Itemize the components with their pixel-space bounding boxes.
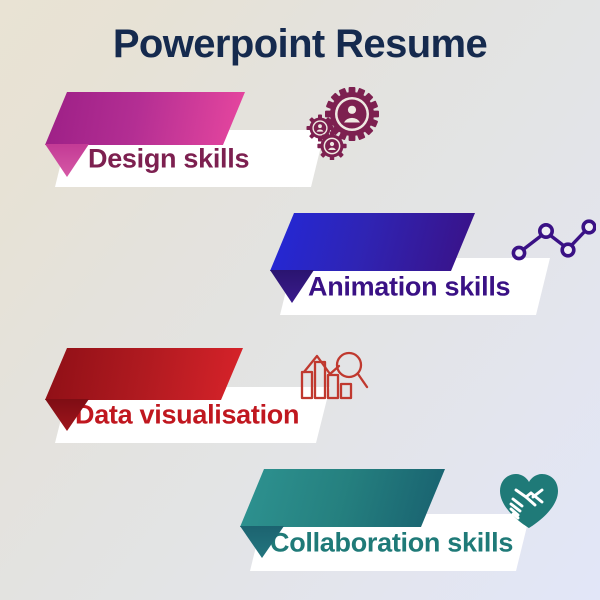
skill-ribbon-animation [270, 213, 475, 271]
page-title: Powerpoint Resume [0, 22, 600, 67]
skill-ribbon-collaboration [240, 469, 445, 527]
skill-label-animation: Animation skills [280, 271, 550, 302]
handshake-heart-icon [497, 471, 561, 531]
skill-label-dataviz: Data visualisation [55, 400, 330, 431]
gears-person-icon [300, 86, 384, 160]
skill-ribbon-dataviz [45, 348, 243, 400]
skill-label-collaboration: Collaboration skills [250, 527, 530, 558]
poster-canvas: Powerpoint Resume Design skills [0, 0, 600, 600]
skill-ribbon-design [45, 92, 245, 145]
bar-chart-magnifier-icon [297, 346, 371, 402]
skill-label-design: Design skills [55, 143, 325, 174]
line-chart-nodes-icon [508, 216, 596, 264]
